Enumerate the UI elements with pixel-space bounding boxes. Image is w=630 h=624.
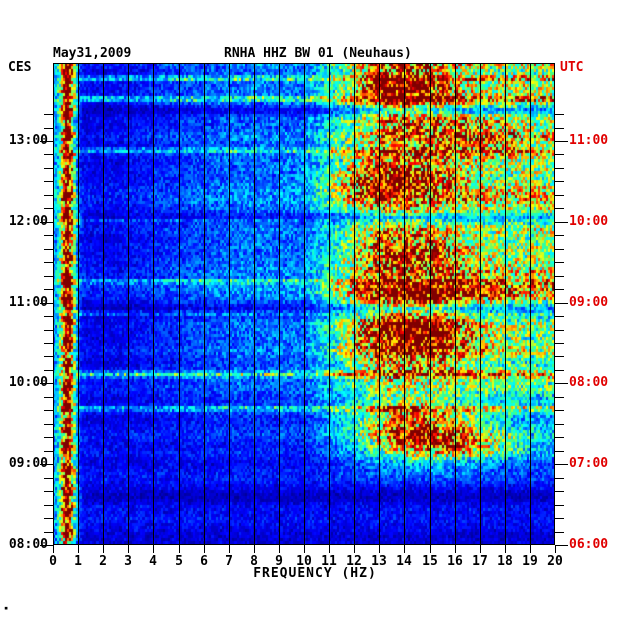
x-tick-15 — [430, 545, 431, 553]
spectrogram-plot-area[interactable] — [53, 63, 555, 545]
left-tick-8 — [44, 437, 53, 438]
right-tick-14 — [555, 356, 564, 357]
right-tick-31 — [555, 128, 564, 129]
left-tick-21 — [44, 262, 53, 263]
right-hour-tick-0800 — [555, 383, 568, 384]
right-tick-20 — [555, 276, 564, 277]
frequency-gridline-16 — [455, 63, 456, 545]
left-tick-32 — [44, 114, 53, 115]
right-tick-32 — [555, 114, 564, 115]
left-tick-14 — [44, 356, 53, 357]
right-tick-15 — [555, 343, 564, 344]
frequency-gridline-4 — [153, 63, 154, 545]
left-tick-7 — [44, 451, 53, 452]
left-tick-16 — [44, 330, 53, 331]
right-tick-label-0900: 09:00 — [569, 295, 608, 310]
x-tick-2 — [103, 545, 104, 553]
right-tick-label-0700: 07:00 — [569, 456, 608, 471]
x-tick-16 — [455, 545, 456, 553]
x-tick-0 — [53, 545, 54, 553]
plot-station-title: RNHA HHZ BW 01 (Neuhaus) — [224, 46, 412, 61]
frequency-gridline-7 — [229, 63, 230, 545]
left-tick-1 — [44, 532, 53, 533]
frequency-gridline-2 — [103, 63, 104, 545]
frequency-gridline-13 — [379, 63, 380, 545]
right-tick-4 — [555, 491, 564, 492]
left-tick-11 — [44, 397, 53, 398]
left-tick-15 — [44, 343, 53, 344]
x-tick-1 — [78, 545, 79, 553]
left-tick-27 — [44, 181, 53, 182]
right-hour-tick-0600 — [555, 545, 568, 546]
x-tick-13 — [379, 545, 380, 553]
right-tick-label-1100: 11:00 — [569, 133, 608, 148]
left-tick-3 — [44, 505, 53, 506]
left-tick-9 — [44, 424, 53, 425]
frequency-gridline-19 — [530, 63, 531, 545]
right-tick-3 — [555, 505, 564, 506]
right-tick-27 — [555, 181, 564, 182]
x-tick-10 — [304, 545, 305, 553]
frequency-gridline-6 — [204, 63, 205, 545]
frequency-gridline-3 — [128, 63, 129, 545]
right-tick-label-0800: 08:00 — [569, 375, 608, 390]
left-tick-10 — [44, 410, 53, 411]
right-tick-25 — [555, 208, 564, 209]
right-tick-8 — [555, 437, 564, 438]
frequency-gridline-10 — [304, 63, 305, 545]
frequency-gridline-14 — [404, 63, 405, 545]
frequency-gridline-17 — [480, 63, 481, 545]
left-tick-29 — [44, 154, 53, 155]
right-tick-22 — [555, 249, 564, 250]
x-tick-14 — [404, 545, 405, 553]
x-tick-20 — [555, 545, 556, 553]
spectrogram-page: May31,2009 RNHA HHZ BW 01 (Neuhaus) CES … — [0, 0, 630, 624]
frequency-gridline-15 — [430, 63, 431, 545]
x-tick-5 — [179, 545, 180, 553]
left-tick-20 — [44, 276, 53, 277]
frequency-gridline-9 — [279, 63, 280, 545]
left-tick-label-1300: 13:00 — [0, 133, 48, 148]
left-tick-5 — [44, 478, 53, 479]
left-tick-label-0900: 09:00 — [0, 456, 48, 471]
x-tick-8 — [254, 545, 255, 553]
right-axis-label: UTC — [560, 60, 583, 75]
x-tick-4 — [153, 545, 154, 553]
x-tick-9 — [279, 545, 280, 553]
x-tick-12 — [354, 545, 355, 553]
x-tick-6 — [204, 545, 205, 553]
left-axis-label: CES — [8, 60, 31, 75]
right-hour-tick-0900 — [555, 303, 568, 304]
x-tick-18 — [505, 545, 506, 553]
right-tick-10 — [555, 410, 564, 411]
right-tick-19 — [555, 289, 564, 290]
left-tick-17 — [44, 316, 53, 317]
right-hour-tick-1000 — [555, 222, 568, 223]
left-tick-26 — [44, 195, 53, 196]
frequency-gridline-12 — [354, 63, 355, 545]
x-tick-17 — [480, 545, 481, 553]
right-tick-29 — [555, 154, 564, 155]
corner-artifact-mark: ▪ — [4, 604, 8, 612]
left-tick-label-1000: 10:00 — [0, 375, 48, 390]
right-tick-label-0600: 06:00 — [569, 537, 608, 552]
right-tick-28 — [555, 168, 564, 169]
right-tick-17 — [555, 316, 564, 317]
right-tick-21 — [555, 262, 564, 263]
right-tick-5 — [555, 478, 564, 479]
left-tick-22 — [44, 249, 53, 250]
left-tick-19 — [44, 289, 53, 290]
left-tick-2 — [44, 518, 53, 519]
frequency-gridline-5 — [179, 63, 180, 545]
left-tick-13 — [44, 370, 53, 371]
right-tick-1 — [555, 532, 564, 533]
left-tick-28 — [44, 168, 53, 169]
frequency-gridline-11 — [329, 63, 330, 545]
right-hour-tick-0700 — [555, 464, 568, 465]
left-tick-4 — [44, 491, 53, 492]
frequency-gridline-1 — [78, 63, 79, 545]
left-tick-label-1200: 12:00 — [0, 214, 48, 229]
right-tick-7 — [555, 451, 564, 452]
x-tick-7 — [229, 545, 230, 553]
x-tick-19 — [530, 545, 531, 553]
right-tick-2 — [555, 518, 564, 519]
right-tick-16 — [555, 330, 564, 331]
x-tick-3 — [128, 545, 129, 553]
right-tick-13 — [555, 370, 564, 371]
right-tick-9 — [555, 424, 564, 425]
left-tick-31 — [44, 128, 53, 129]
left-tick-label-1100: 11:00 — [0, 295, 48, 310]
right-tick-26 — [555, 195, 564, 196]
x-tick-11 — [329, 545, 330, 553]
frequency-gridline-8 — [254, 63, 255, 545]
x-axis-title: FREQUENCY (HZ) — [0, 566, 630, 581]
frequency-gridline-18 — [505, 63, 506, 545]
right-tick-11 — [555, 397, 564, 398]
right-hour-tick-1100 — [555, 141, 568, 142]
right-tick-23 — [555, 235, 564, 236]
right-tick-label-1000: 10:00 — [569, 214, 608, 229]
left-tick-25 — [44, 208, 53, 209]
plot-date-label: May31,2009 — [53, 46, 131, 61]
left-tick-23 — [44, 235, 53, 236]
left-tick-label-0800: 08:00 — [0, 537, 48, 552]
